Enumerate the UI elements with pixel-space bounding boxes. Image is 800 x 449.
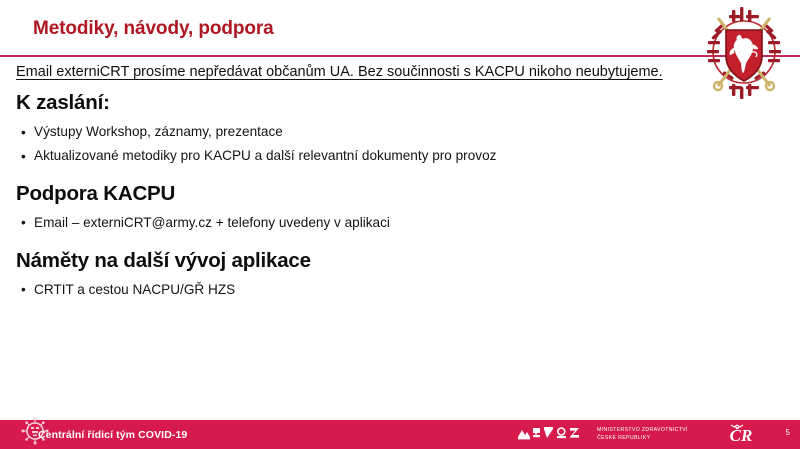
bullet-list-k-zaslani: • Výstupy Workshop, záznamy, prezentace …: [16, 124, 786, 165]
bullet-icon: •: [21, 125, 26, 141]
page-title: Metodiky, návody, podpora: [33, 18, 274, 40]
list-item: • Aktualizované metodiky pro KACPU a dal…: [16, 148, 786, 164]
bullet-list-namety: • CRTIT a cestou NACPU/GŘ HZS: [16, 282, 786, 298]
list-item-label: Email – externiCRT@army.cz + telefony uv…: [34, 215, 390, 230]
list-item-label: Aktualizované metodiky pro KACPU a další…: [34, 148, 496, 163]
svg-text:ČR: ČR: [730, 426, 753, 445]
section-heading-k-zaslani: K zaslání:: [16, 90, 786, 115]
bullet-icon: •: [21, 215, 26, 231]
list-item-label: Výstupy Workshop, záznamy, prezentace: [34, 124, 283, 139]
ministry-name-line2: ČESKÉ REPUBLIKY: [597, 435, 688, 443]
list-item: • Výstupy Workshop, záznamy, prezentace: [16, 124, 786, 140]
list-item: • Email – externiCRT@army.cz + telefony …: [16, 215, 786, 231]
header-divider: [0, 55, 800, 57]
ministry-of-health-pictogram-icon: [517, 424, 587, 443]
footer-team-label: Centrální řídicí tým COVID-19: [38, 429, 187, 441]
cr-logo-icon: ČR: [718, 422, 764, 445]
page-number: 5: [786, 428, 790, 437]
slide-body: K zaslání: • Výstupy Workshop, záznamy, …: [16, 90, 786, 298]
presentation-slide: Metodiky, návody, podpora: [0, 0, 800, 449]
bullet-list-podpora-kacpu: • Email – externiCRT@army.cz + telefony …: [16, 215, 786, 231]
notice-text: Email externiCRT prosíme nepředávat obča…: [16, 64, 778, 80]
czech-army-emblem-icon: [696, 2, 792, 102]
list-item-label: CRTIT a cestou NACPU/GŘ HZS: [34, 282, 235, 297]
ministry-name: MINISTERSTVO ZDRAVOTNICTVÍ ČESKÉ REPUBLI…: [597, 427, 688, 443]
slide-footer: Centrální řídicí tým COVID-19 MINISTERST…: [0, 420, 800, 449]
bullet-icon: •: [21, 282, 26, 298]
list-item: • CRTIT a cestou NACPU/GŘ HZS: [16, 282, 786, 298]
section-heading-namety-na-dalsi-vyvoj: Náměty na další vývoj aplikace: [16, 248, 786, 273]
bullet-icon: •: [21, 149, 26, 165]
section-heading-podpora-kacpu: Podpora KACPU: [16, 181, 786, 206]
